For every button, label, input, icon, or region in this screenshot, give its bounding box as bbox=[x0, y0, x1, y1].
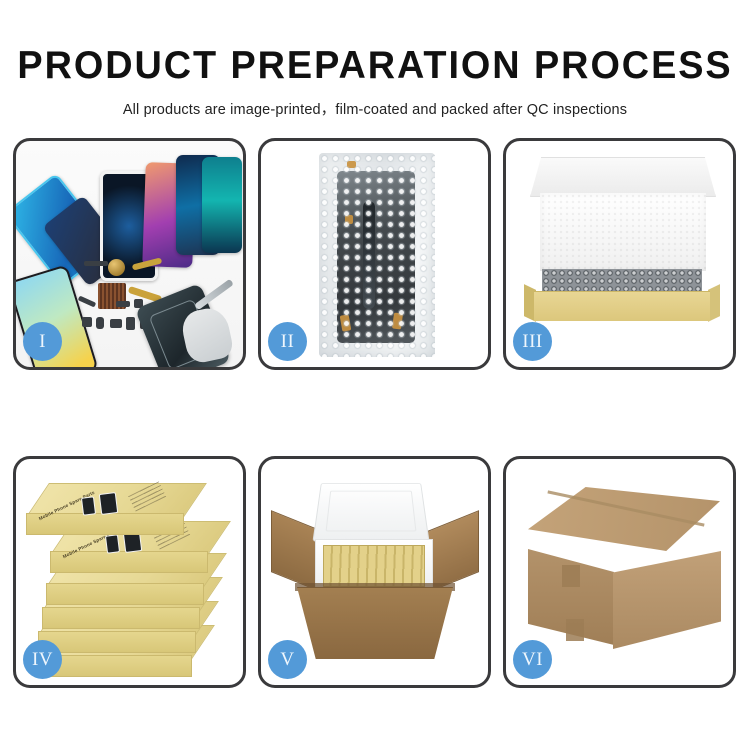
bubble-wrap-bag bbox=[319, 153, 435, 357]
small-part-b bbox=[82, 317, 92, 327]
step-panel-1: I bbox=[13, 138, 246, 370]
label-phone-thumb-a bbox=[81, 496, 96, 515]
step-badge-3: III bbox=[513, 322, 552, 361]
page-title: PRODUCT PREPARATION PROCESS bbox=[11, 46, 739, 85]
step-badge-4: IV bbox=[23, 640, 62, 679]
gold-component-icon bbox=[108, 259, 125, 276]
box-front-face bbox=[42, 607, 200, 629]
step-badge-1: I bbox=[23, 322, 62, 361]
bubble-texture bbox=[319, 153, 435, 357]
small-part-d bbox=[110, 319, 122, 328]
small-part-h bbox=[116, 301, 130, 307]
retail-box-1: Mobile Phone Spare Parts bbox=[26, 483, 184, 535]
bubble-wrapped-contents bbox=[542, 269, 702, 293]
carton-tape-bottom bbox=[566, 619, 584, 641]
box-front-panel bbox=[534, 291, 710, 321]
small-part-c bbox=[96, 317, 104, 329]
step-badge-2: II bbox=[268, 322, 307, 361]
carton-right-face bbox=[613, 551, 721, 649]
step-panel-2: II bbox=[258, 138, 491, 370]
process-step-grid: I II bbox=[13, 138, 737, 698]
box-lid-open bbox=[530, 157, 716, 197]
foam-lid bbox=[312, 483, 429, 542]
carton-top-face bbox=[528, 487, 720, 551]
step-badge-6: VI bbox=[513, 640, 552, 679]
foam-sheet bbox=[540, 193, 706, 271]
page-subtitle: All products are image-printed，film-coat… bbox=[0, 98, 750, 119]
label-phone-thumb-a bbox=[105, 534, 120, 553]
box-front-face bbox=[38, 631, 196, 653]
label-phone-thumb-b bbox=[99, 492, 118, 515]
step-panel-5: V bbox=[258, 456, 491, 688]
phone-screen-cyan bbox=[202, 157, 242, 253]
small-part-a bbox=[84, 261, 108, 266]
carton-body bbox=[297, 587, 453, 659]
carton-flap-right bbox=[425, 510, 479, 594]
small-part-e bbox=[126, 317, 135, 330]
infographic-page: PRODUCT PREPARATION PROCESS All products… bbox=[0, 0, 750, 750]
packed-yellow-boxes bbox=[323, 545, 425, 587]
step-badge-5: V bbox=[268, 640, 307, 679]
carton-tape-top bbox=[562, 565, 580, 587]
small-part-g bbox=[78, 296, 96, 308]
step-panel-3: III bbox=[503, 138, 736, 370]
header: PRODUCT PREPARATION PROCESS All products… bbox=[0, 0, 750, 119]
box-front-face bbox=[46, 583, 204, 605]
step-panel-4: Mobile Phone Spare Parts Mobile Phone Sp… bbox=[13, 456, 246, 688]
step-panel-6: VI bbox=[503, 456, 736, 688]
